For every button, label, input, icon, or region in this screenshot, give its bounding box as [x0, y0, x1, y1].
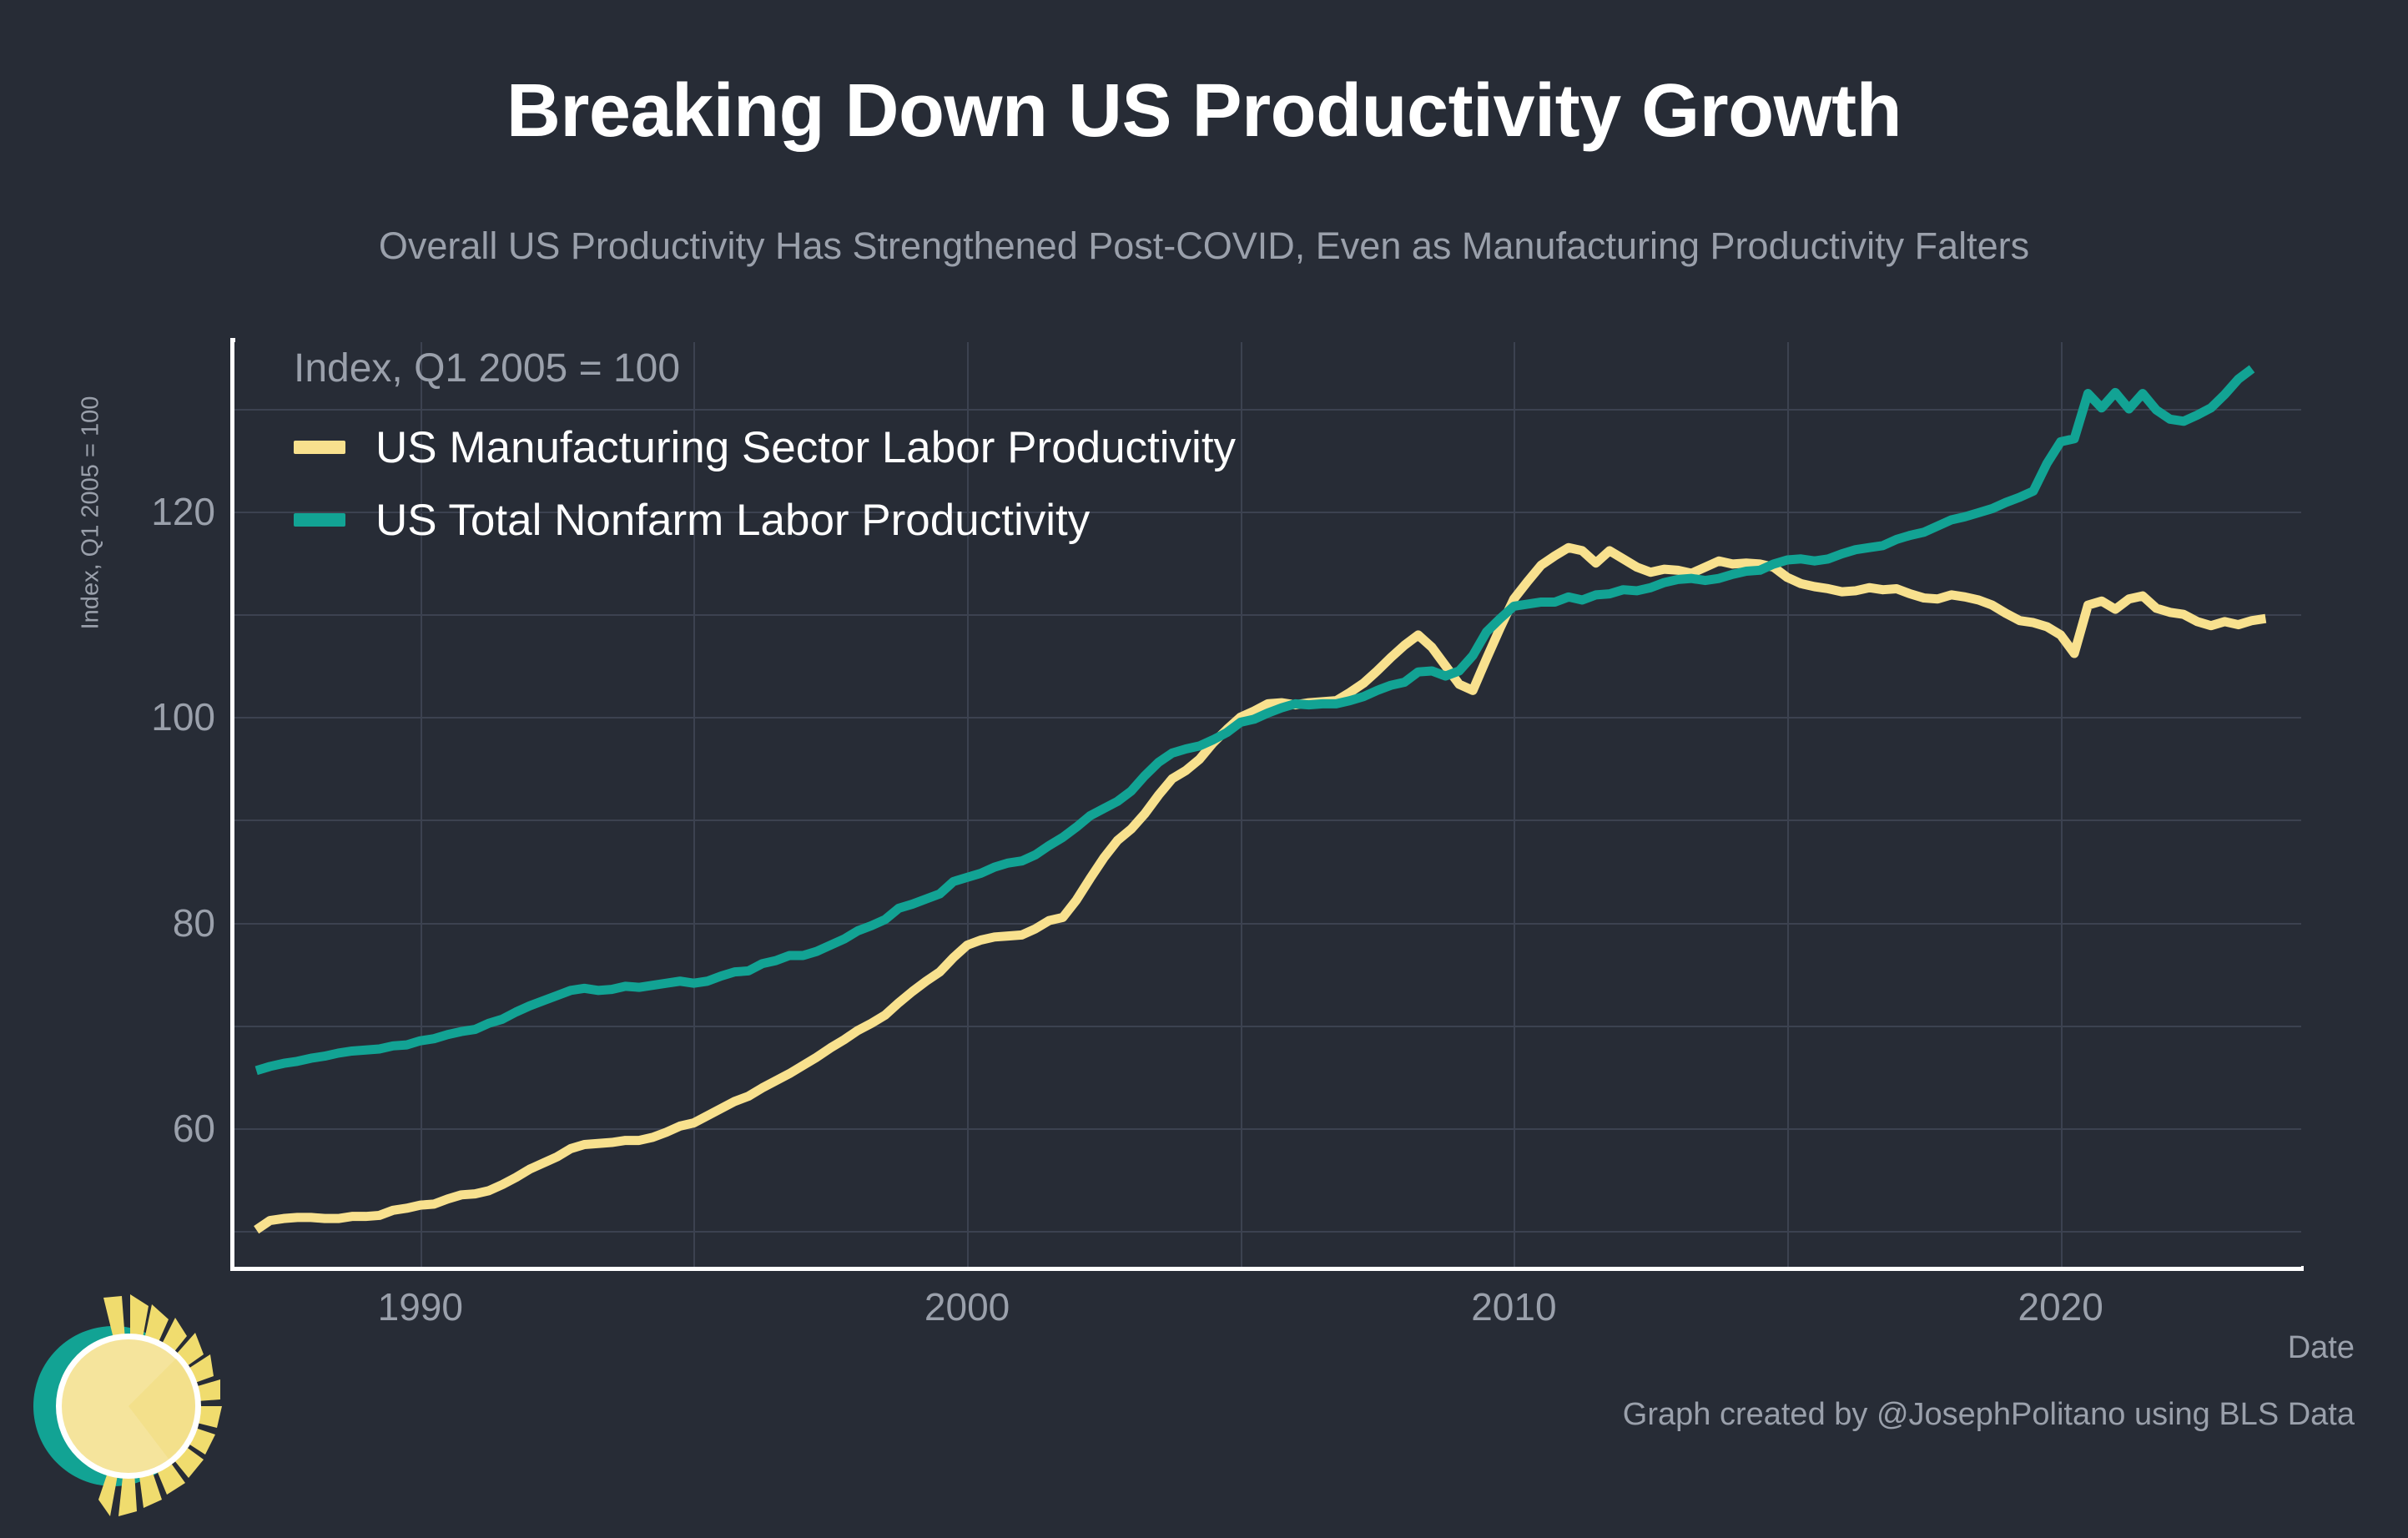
legend-label: US Total Nonfarm Labor Productivity: [375, 498, 1090, 542]
legend-item[interactable]: US Total Nonfarm Labor Productivity: [294, 498, 1236, 542]
chart-subtitle: Overall US Productivity Has Strengthened…: [0, 227, 2408, 265]
sun-logo: [5, 1281, 255, 1531]
legend-swatch: [294, 441, 345, 454]
x-axis-tick-label: 1990: [378, 1288, 463, 1326]
page-title: Breaking Down US Productivity Growth: [0, 73, 2408, 149]
credit-text: Graph created by @JosephPolitano using B…: [1623, 1399, 2355, 1430]
series-line: [256, 547, 2265, 1229]
legend-label: US Manufacturing Sector Labor Productivi…: [375, 426, 1236, 470]
legend: US Manufacturing Sector Labor Productivi…: [294, 426, 1236, 542]
y-axis-label: Index, Q1 2005 = 100: [72, 342, 110, 1267]
x-axis-tick-label: 2000: [924, 1288, 1010, 1326]
x-axis-tick-label: 2020: [2018, 1288, 2103, 1326]
legend-note: Index, Q1 2005 = 100: [294, 349, 680, 389]
x-axis-tick-label: 2010: [1471, 1288, 1556, 1326]
x-axis-label: Date: [2288, 1332, 2355, 1364]
y-axis-label-text: Index, Q1 2005 = 100: [79, 396, 103, 630]
legend-item[interactable]: US Manufacturing Sector Labor Productivi…: [294, 426, 1236, 469]
legend-swatch: [294, 513, 345, 527]
chart-figure: Breaking Down US Productivity Growth Ove…: [0, 0, 2408, 1538]
